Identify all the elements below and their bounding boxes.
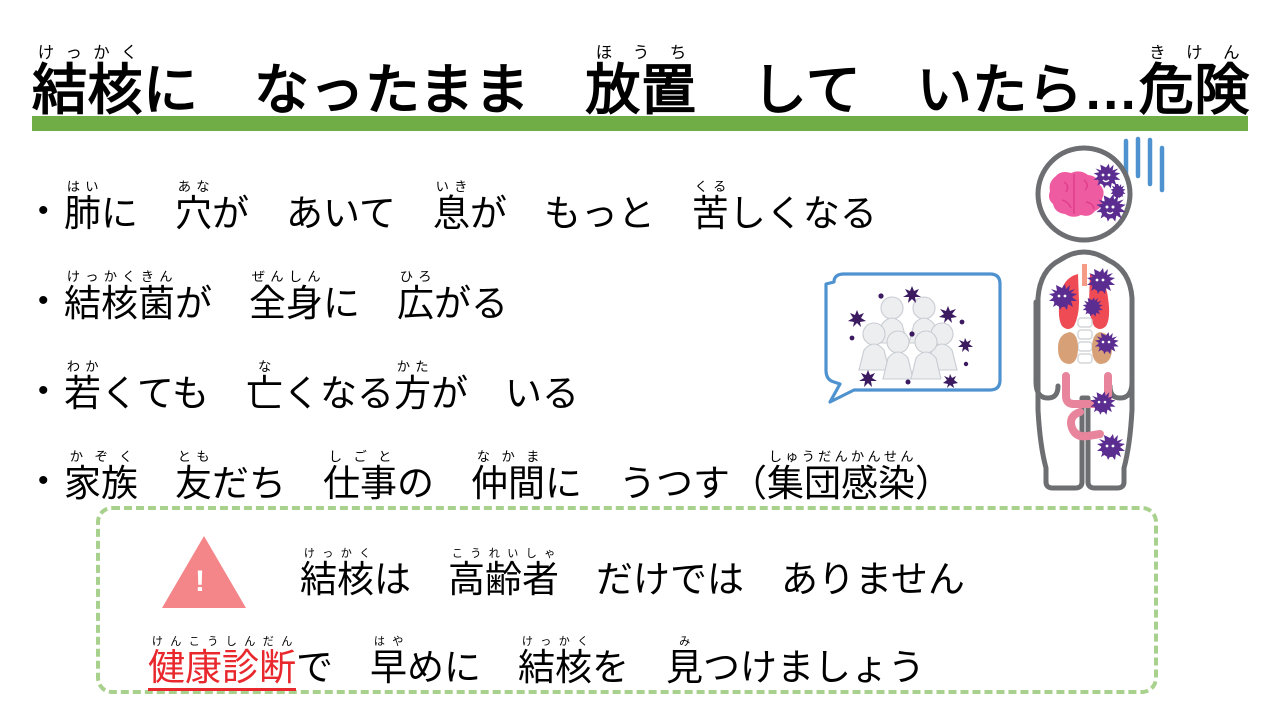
title-accent-bar: [32, 116, 1248, 131]
page-title: 結核けっかくに なったまま 放置ほうち して いたら…危険きけん: [32, 44, 1250, 118]
notice-line-1: 結核けっかくは 高齢者こうれいしゃ だけでは ありません: [300, 548, 965, 598]
bullet-marker: •: [38, 196, 64, 238]
bullet-text-2: 若わかくても 亡なくなる方かたが いる: [64, 359, 579, 418]
bullet-marker: •: [38, 286, 64, 328]
human-body-organs-illustration: [1022, 132, 1212, 492]
title-area: 結核けっかくに なったまま 放置ほうち して いたら…危険きけん: [0, 0, 1280, 128]
brain-icon: [1049, 171, 1104, 216]
bullet-text-3: 家族かぞく 友ともだち 仕事しごとの 仲間なかまに うつす（集団感染しゅうだんか…: [64, 449, 952, 508]
bullet-text-0: 肺はいに 穴あなが あいて 息いきが もっと 苦くるしくなる: [64, 179, 877, 238]
body-figure-graphic: [1022, 132, 1212, 492]
notice-box: ! 結核けっかくは 高齢者こうれいしゃ だけでは ありません 健康診断けんこうし…: [96, 506, 1158, 694]
worry-lines-icon: [1126, 139, 1162, 190]
bullet-marker: •: [38, 376, 64, 418]
warning-exclamation-mark: !: [195, 567, 204, 597]
title-ruby-text: 結核けっかくに なったまま 放置ほうち して いたら…危険きけん: [32, 59, 1250, 121]
slide-canvas: 結核けっかくに なったまま 放置ほうち して いたら…危険きけん • 肺はいに …: [0, 0, 1280, 720]
speech-bubble-graphic: [820, 272, 1012, 404]
group-infection-speech-bubble: [820, 272, 1012, 404]
list-item: • 肺はいに 穴あなが あいて 息いきが もっと 苦くるしくなる: [38, 148, 998, 238]
notice-line-2: 健康診断けんこうしんだんで 早はやめに 結核けっかくを 見みつけましょう: [148, 636, 925, 686]
list-item: • 家族かぞく 友ともだち 仕事しごとの 仲間なかまに うつす（集団感染しゅうだ…: [38, 418, 998, 508]
bullet-text-1: 結核菌けっかくきんが 全身ぜんしんに 広ひろがる: [64, 269, 508, 328]
bullet-marker: •: [38, 466, 64, 508]
